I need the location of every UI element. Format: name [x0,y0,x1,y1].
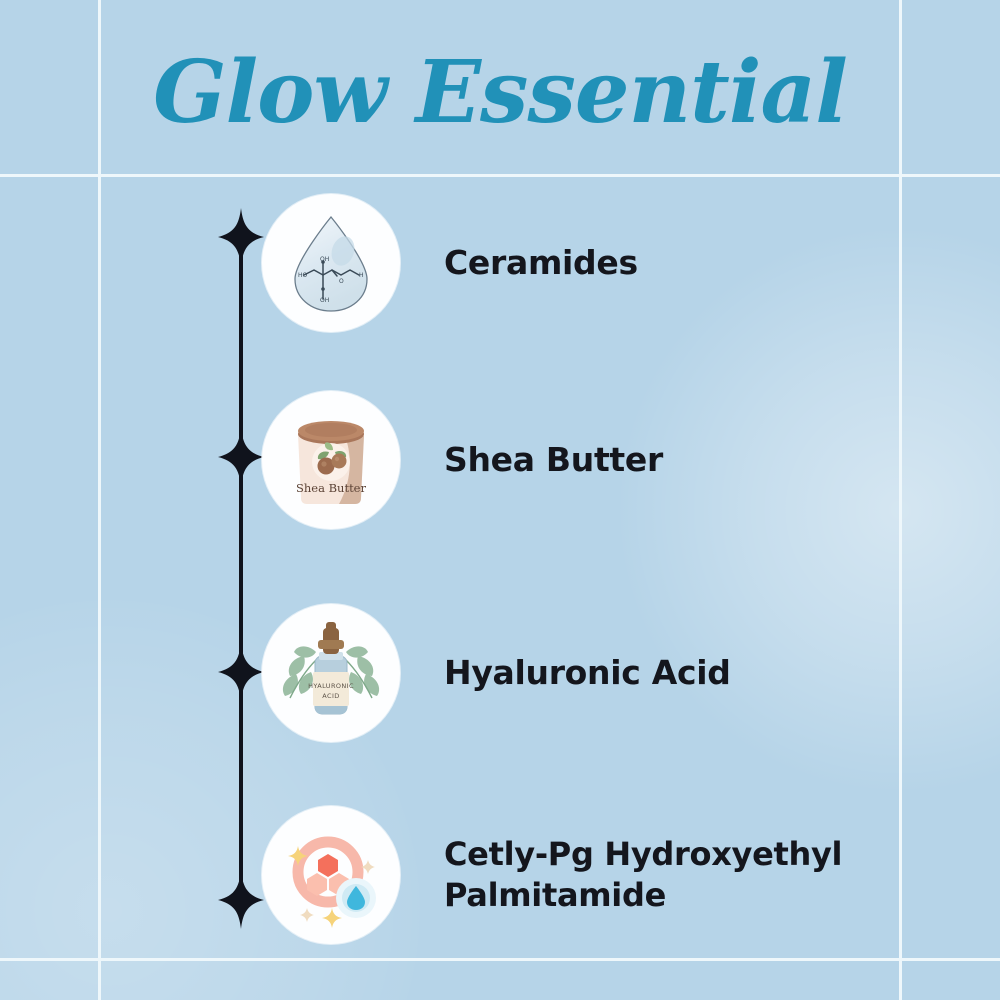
ingredient-label-2: Shea Butter [444,439,663,481]
sparkle-marker-3 [218,643,264,701]
bottle-caption-line1: HYALURONIC [308,682,354,690]
molecule-hydration-sparkle-icon [272,816,390,934]
sparkle-marker-2 [218,428,264,486]
water-droplet-molecule-icon: HO OH OH O H [271,203,391,323]
ingredient-icon-badge-4 [262,806,400,944]
ingredient-label-4-line1: Cetly-Pg Hydroxyethyl [444,834,842,875]
ingredient-icon-badge-3: HYALURONIC ACID [262,604,400,742]
ingredient-label-4-line2: Palmitamide [444,875,842,916]
grid-line-vertical-left [98,0,101,1000]
page-title: Glow Essential [0,48,1000,138]
bottle-caption-line2: ACID [322,692,339,700]
poster-canvas: Glow Essential [0,0,1000,1000]
ingredient-row-1: HO OH OH O H Ceramides [262,188,962,338]
grid-line-horizontal-top [0,174,1000,177]
svg-text:OH: OH [320,297,329,304]
sparkle-marker-1 [218,208,264,266]
ingredient-row-4: Cetly-Pg Hydroxyethyl Palmitamide [262,800,962,950]
grid-line-horizontal-bottom [0,958,1000,961]
svg-text:H: H [359,272,364,279]
ingredient-icon-badge-1: HO OH OH O H [262,194,400,332]
ingredient-icon-badge-2: Shea Butter [262,391,400,529]
timeline-spine [239,237,243,902]
ingredient-row-3: HYALURONIC ACID Hyaluronic Acid [262,598,962,748]
svg-text:HO: HO [298,272,308,279]
ingredient-label-3: Hyaluronic Acid [444,652,731,694]
jar-caption: Shea Butter [296,481,367,495]
shea-butter-jar-icon: Shea Butter [271,400,391,520]
ingredient-label-4: Cetly-Pg Hydroxyethyl Palmitamide [444,834,842,916]
sparkle-marker-4 [218,871,264,929]
serum-dropper-bottle-icon: HYALURONIC ACID [270,612,392,734]
ingredient-row-2: Shea Butter Shea Butter [262,385,962,535]
svg-text:O: O [339,278,344,285]
ingredient-label-1: Ceramides [444,242,638,284]
